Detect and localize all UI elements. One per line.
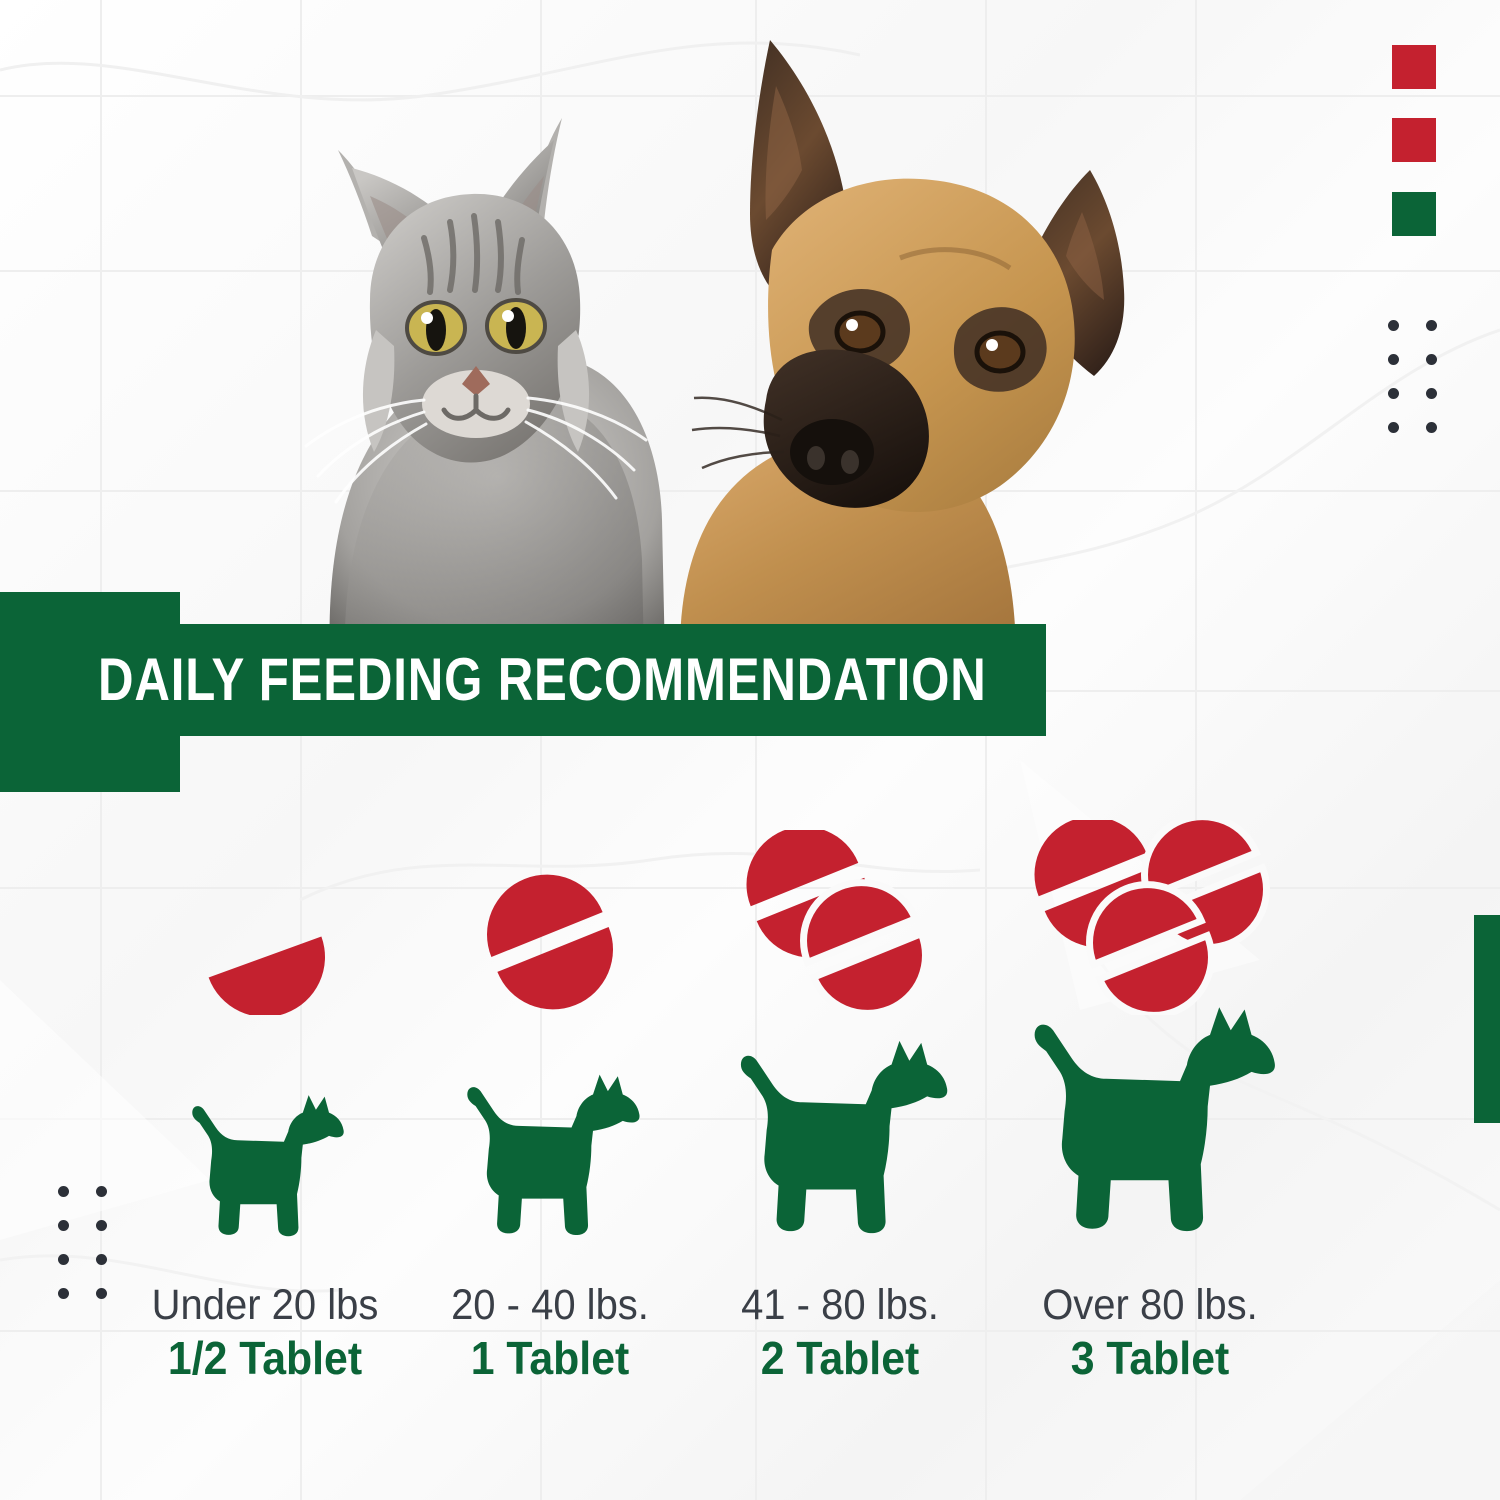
tablet-icon-area-3 <box>690 800 990 1015</box>
square-red-1 <box>1392 45 1436 89</box>
dot-grid-top-right <box>1388 320 1468 430</box>
dosage-column-1: Under 20 lbs 1/2 Tablet <box>115 800 415 1382</box>
dot <box>1388 388 1399 399</box>
half-tablet-icon <box>175 885 355 1015</box>
two-tablets-icon <box>733 830 948 1015</box>
square-red-2 <box>1392 118 1436 162</box>
dot <box>1426 388 1437 399</box>
dose-label: 2 Tablet <box>701 1334 980 1382</box>
one-tablet-icon <box>460 870 640 1015</box>
dot <box>1388 354 1399 365</box>
dose-label: 1/2 Tablet <box>126 1334 405 1382</box>
weight-label: 20 - 40 lbs. <box>411 1283 690 1328</box>
dosage-column-2: 20 - 40 lbs. 1 Tablet <box>400 800 700 1382</box>
dog-silhouette-area-1 <box>115 1015 415 1245</box>
dog-silhouette-xs <box>170 1085 360 1245</box>
dog-silhouette-area-2 <box>400 1015 700 1245</box>
header-banner: DAILY FEEDING RECOMMENDATION <box>60 624 1046 736</box>
tablet-icon-area-4 <box>1000 800 1300 1015</box>
weight-label: Over 80 lbs. <box>1011 1283 1290 1328</box>
tablet-icon-area-1 <box>115 800 415 1015</box>
pet-photos <box>210 0 1160 660</box>
three-tablets-icon <box>1018 820 1283 1015</box>
dosage-chart: Under 20 lbs 1/2 Tablet 20 - 40 lbs. 1 T… <box>0 800 1500 1440</box>
dog-silhouette-md <box>711 1027 969 1245</box>
weight-label: Under 20 lbs <box>126 1283 405 1328</box>
dosage-column-3: 41 - 80 lbs. 2 Tablet <box>690 800 990 1382</box>
dot <box>1388 320 1399 331</box>
dot <box>1426 422 1437 433</box>
dot <box>1426 354 1437 365</box>
tablet-icon-area-2 <box>400 800 700 1015</box>
page-title: DAILY FEEDING RECOMMENDATION <box>98 650 987 710</box>
dosage-column-4: Over 80 lbs. 3 Tablet <box>1000 800 1300 1382</box>
weight-label: 41 - 80 lbs. <box>701 1283 980 1328</box>
square-green <box>1392 192 1436 236</box>
dose-label: 1 Tablet <box>411 1334 690 1382</box>
dot <box>1388 422 1399 433</box>
dog-silhouette-sm <box>443 1063 658 1245</box>
infographic-canvas: DAILY FEEDING RECOMMENDATION <box>0 0 1500 1500</box>
dog-silhouette-lg <box>1000 991 1300 1245</box>
dog-photo-graphic <box>680 40 1124 660</box>
cat-photo-graphic <box>306 118 665 660</box>
dot <box>1426 320 1437 331</box>
dog-silhouette-area-3 <box>690 1015 990 1245</box>
dose-label: 3 Tablet <box>1011 1334 1290 1382</box>
dog-silhouette-area-4 <box>1000 1015 1300 1245</box>
